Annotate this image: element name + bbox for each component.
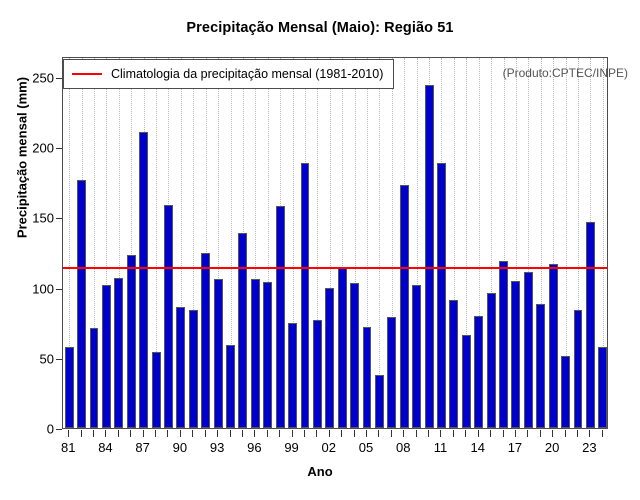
x-tick-mark bbox=[217, 430, 218, 437]
x-tick-mark bbox=[118, 430, 119, 437]
x-tick-mark bbox=[242, 430, 243, 437]
x-tick-mark bbox=[205, 430, 206, 437]
x-tick-mark bbox=[540, 430, 541, 437]
gridline bbox=[379, 58, 380, 428]
x-tick-label: 11 bbox=[434, 440, 448, 455]
x-tick-mark bbox=[416, 430, 417, 437]
x-tick-label: 87 bbox=[135, 440, 149, 455]
x-tick-label: 96 bbox=[247, 440, 261, 455]
bar bbox=[449, 300, 458, 428]
bar bbox=[474, 316, 483, 428]
bar bbox=[536, 304, 545, 428]
bar bbox=[387, 317, 396, 428]
x-tick-mark bbox=[130, 430, 131, 437]
y-tick-label: 200 bbox=[8, 141, 54, 156]
x-tick-mark bbox=[378, 430, 379, 437]
bar bbox=[524, 272, 533, 428]
x-tick-mark bbox=[105, 430, 106, 437]
bar bbox=[574, 310, 583, 428]
x-tick-mark bbox=[403, 430, 404, 437]
x-axis-title: Ano bbox=[0, 464, 640, 479]
bar bbox=[325, 288, 334, 428]
x-tick-mark bbox=[167, 430, 168, 437]
chart-title: Precipitação Mensal (Maio): Região 51 bbox=[0, 20, 640, 36]
x-tick-mark bbox=[267, 430, 268, 437]
bar bbox=[549, 264, 558, 428]
bar bbox=[487, 293, 496, 428]
bar bbox=[375, 375, 384, 428]
legend: Climatologia da precipitação mensal (198… bbox=[63, 59, 394, 89]
bar bbox=[127, 255, 136, 428]
x-tick-mark bbox=[391, 430, 392, 437]
bar bbox=[350, 283, 359, 428]
x-tick-mark bbox=[316, 430, 317, 437]
x-tick-mark bbox=[503, 430, 504, 437]
bar bbox=[114, 278, 123, 428]
y-tick-label: 250 bbox=[8, 71, 54, 86]
plot-area bbox=[62, 57, 608, 429]
x-tick-mark bbox=[304, 430, 305, 437]
precipitation-chart-figure: Precipitação Mensal (Maio): Região 51 Pr… bbox=[0, 0, 640, 500]
bar bbox=[90, 328, 99, 428]
bar bbox=[400, 185, 409, 428]
x-tick-mark bbox=[465, 430, 466, 437]
bar bbox=[226, 345, 235, 428]
bar bbox=[301, 163, 310, 428]
bar bbox=[586, 222, 595, 428]
x-tick-label: 14 bbox=[470, 440, 484, 455]
y-tick-label: 150 bbox=[8, 211, 54, 226]
x-tick-mark bbox=[366, 430, 367, 437]
x-tick-mark bbox=[478, 430, 479, 437]
producer-credit: (Produto:CPTEC/INPE) bbox=[503, 66, 628, 80]
x-tick-mark bbox=[527, 430, 528, 437]
bar bbox=[65, 347, 74, 428]
x-tick-mark bbox=[440, 430, 441, 437]
x-tick-mark bbox=[93, 430, 94, 437]
bar bbox=[276, 206, 285, 428]
y-tick-mark bbox=[56, 429, 62, 430]
y-tick-label: 100 bbox=[8, 281, 54, 296]
bar bbox=[102, 285, 111, 428]
bar bbox=[176, 307, 185, 428]
x-tick-mark bbox=[192, 430, 193, 437]
x-tick-mark bbox=[453, 430, 454, 437]
x-tick-mark bbox=[180, 430, 181, 437]
x-tick-label: 90 bbox=[173, 440, 187, 455]
x-tick-label: 84 bbox=[98, 440, 112, 455]
x-tick-label: 93 bbox=[210, 440, 224, 455]
x-tick-mark bbox=[143, 430, 144, 437]
x-tick-label: 17 bbox=[508, 440, 522, 455]
legend-line-swatch bbox=[72, 73, 102, 75]
bar bbox=[263, 282, 272, 428]
climatology-line bbox=[63, 267, 607, 269]
bar bbox=[288, 323, 297, 428]
bar bbox=[462, 335, 471, 428]
x-tick-mark bbox=[254, 430, 255, 437]
bar bbox=[189, 310, 198, 428]
bar bbox=[511, 281, 520, 428]
bar bbox=[437, 163, 446, 428]
bar bbox=[251, 279, 260, 428]
x-tick-label: 20 bbox=[545, 440, 559, 455]
x-tick-mark bbox=[589, 430, 590, 437]
plot-inner bbox=[63, 58, 607, 428]
x-tick-mark bbox=[81, 430, 82, 437]
bar bbox=[412, 285, 421, 428]
x-tick-label: 02 bbox=[322, 440, 336, 455]
x-tick-mark bbox=[230, 430, 231, 437]
bar bbox=[77, 180, 86, 428]
y-axis-title: Precipitação mensal (mm) bbox=[15, 18, 30, 298]
x-tick-mark bbox=[565, 430, 566, 437]
x-tick-mark bbox=[329, 430, 330, 437]
bar bbox=[238, 233, 247, 428]
bar bbox=[338, 267, 347, 428]
bar bbox=[201, 253, 210, 428]
x-tick-mark bbox=[602, 430, 603, 437]
y-tick-label: 0 bbox=[8, 422, 54, 437]
y-tick-label: 50 bbox=[8, 351, 54, 366]
legend-label: Climatologia da precipitação mensal (198… bbox=[111, 67, 383, 81]
x-tick-mark bbox=[552, 430, 553, 437]
x-tick-mark bbox=[279, 430, 280, 437]
bar bbox=[313, 320, 322, 428]
bar bbox=[164, 205, 173, 428]
bar bbox=[363, 327, 372, 428]
bar bbox=[425, 85, 434, 428]
x-tick-label: 05 bbox=[359, 440, 373, 455]
x-tick-label: 08 bbox=[396, 440, 410, 455]
x-tick-label: 23 bbox=[582, 440, 596, 455]
bar bbox=[214, 279, 223, 428]
x-tick-mark bbox=[292, 430, 293, 437]
x-tick-mark bbox=[341, 430, 342, 437]
x-tick-mark bbox=[354, 430, 355, 437]
bar bbox=[139, 132, 148, 428]
bar bbox=[152, 352, 161, 428]
x-tick-mark bbox=[428, 430, 429, 437]
x-tick-mark bbox=[155, 430, 156, 437]
x-tick-mark bbox=[490, 430, 491, 437]
bar bbox=[561, 356, 570, 428]
x-tick-mark bbox=[68, 430, 69, 437]
x-tick-label: 99 bbox=[284, 440, 298, 455]
x-tick-mark bbox=[515, 430, 516, 437]
x-tick-mark bbox=[577, 430, 578, 437]
bar bbox=[598, 347, 607, 428]
bar bbox=[499, 261, 508, 428]
x-tick-label: 81 bbox=[61, 440, 75, 455]
